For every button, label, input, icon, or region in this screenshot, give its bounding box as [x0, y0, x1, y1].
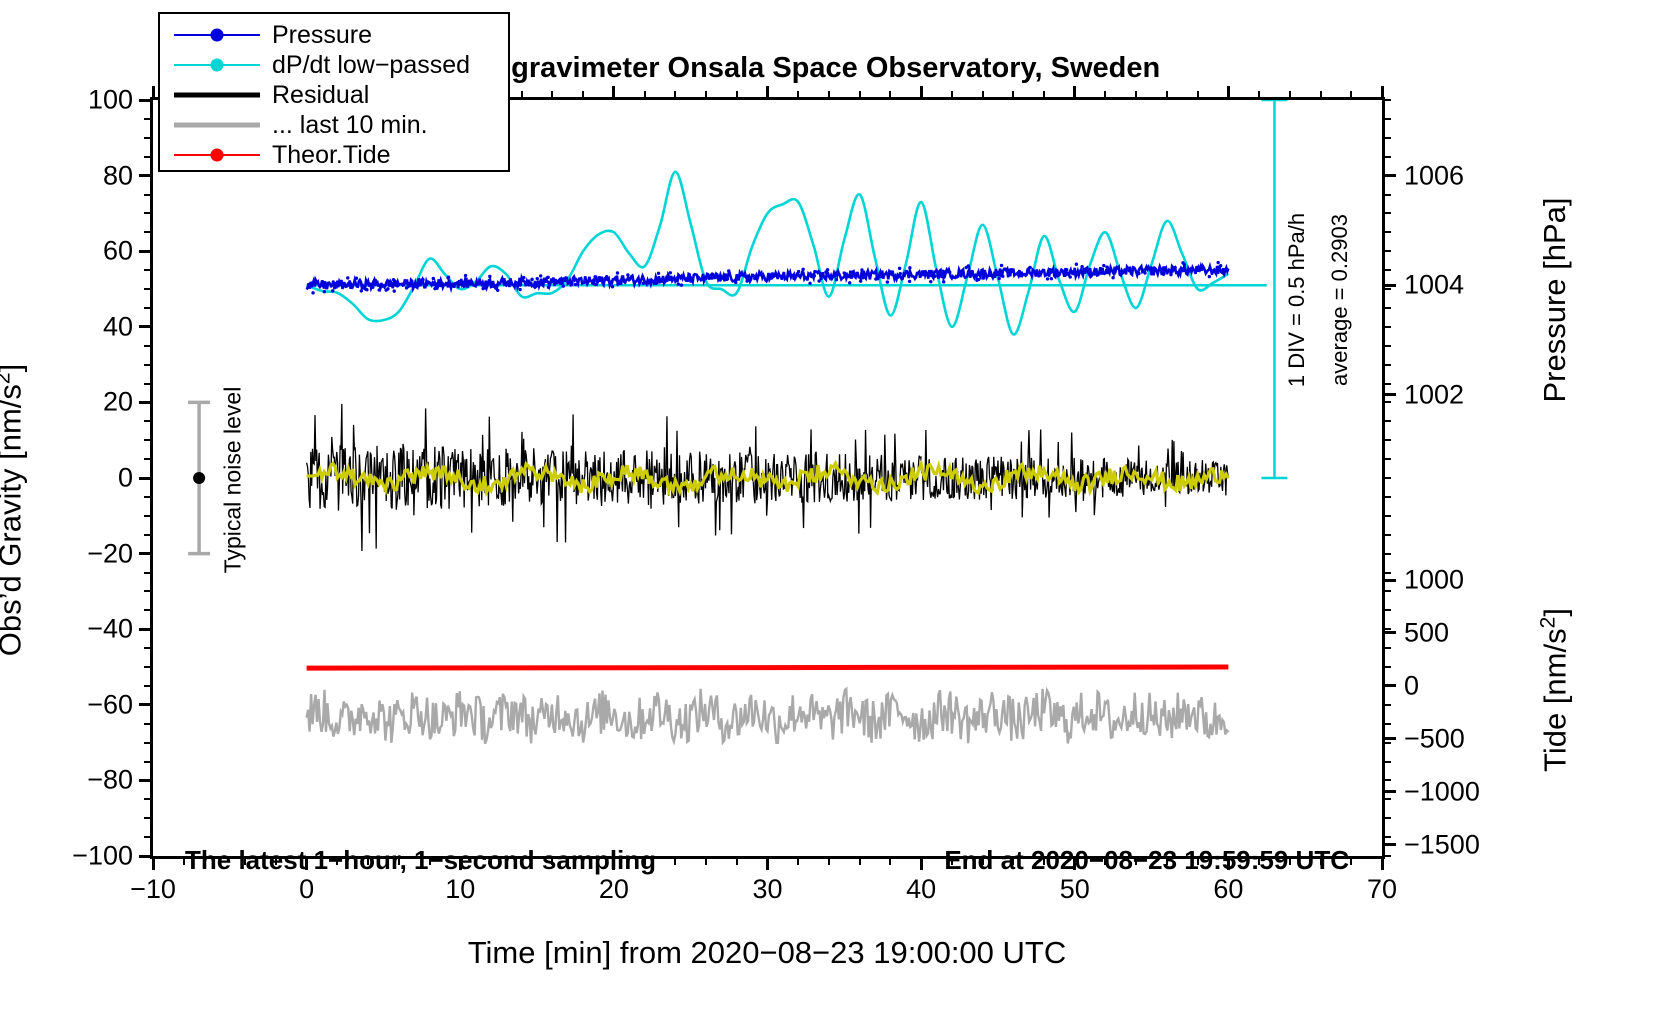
x-axis-tick-label: 60 [1213, 874, 1243, 905]
series-pressure-marker [734, 281, 737, 284]
series-pressure-marker [475, 281, 478, 284]
legend-marker-icon [211, 29, 224, 42]
y-axis-right-minor-tick [1382, 817, 1391, 819]
x-axis-minor-tick [1289, 91, 1291, 100]
series-pressure-marker [464, 274, 467, 277]
series-pressure-marker [1219, 264, 1222, 267]
y-axis-right-tide-tick-label: 0 [1404, 670, 1419, 701]
y-axis-right-tide-tick-label: 1000 [1404, 565, 1464, 596]
y-axis-right-minor-tick [1382, 515, 1391, 517]
x-axis-minor-tick [674, 91, 676, 100]
legend-label: Residual [272, 81, 369, 110]
bottom-left-note: The latest 1−hour, 1−second sampling [185, 845, 656, 876]
y-axis-right-minor-tick [1382, 628, 1391, 630]
series-pressure-marker [610, 280, 613, 283]
series-pressure-marker [1054, 274, 1057, 277]
series-pressure-marker [1169, 273, 1172, 276]
series-pressure-marker [745, 279, 748, 282]
y-axis-right-minor-tick [1382, 269, 1391, 271]
y-axis-right-pressure-tick-label: 1004 [1404, 270, 1464, 301]
y-axis-right-minor-tick [1382, 250, 1391, 252]
x-axis-minor-tick [1320, 91, 1322, 100]
legend-item-1[interactable]: dP/dt low−passed [160, 50, 508, 80]
y-axis-right-tide-tick [1382, 737, 1396, 740]
x-axis-minor-tick [797, 91, 799, 100]
series-pressure-marker [311, 291, 314, 294]
series-pressure-marker [331, 289, 334, 292]
legend: PressuredP/dt low−passedResidual... last… [158, 12, 510, 172]
series-pressure-marker [518, 283, 521, 286]
y-axis-left-minor-tick [144, 420, 153, 422]
y-axis-right-minor-tick [1382, 345, 1391, 347]
series-pressure-marker [574, 283, 577, 286]
series-pressure-marker [908, 266, 911, 269]
y-axis-right-minor-tick [1382, 609, 1391, 611]
series-pressure-marker [446, 276, 449, 279]
y-axis-right-minor-tick [1382, 99, 1391, 101]
x-axis-tick [766, 856, 769, 870]
y-axis-right-minor-tick [1382, 420, 1391, 422]
y-axis-left-minor-tick [144, 515, 153, 517]
x-axis-minor-tick [1197, 91, 1199, 100]
legend-swatch-icon [174, 25, 260, 45]
series-pressure-marker [378, 288, 381, 291]
series-pressure-marker [808, 282, 811, 285]
y-axis-right-minor-tick [1382, 572, 1391, 574]
series-pressure-marker [503, 280, 506, 283]
series-pressure-marker [656, 281, 659, 284]
series-pressure-marker [1008, 270, 1011, 273]
series-pressure-marker [616, 282, 619, 285]
series-pressure-marker [1050, 277, 1053, 280]
x-axis-minor-tick [582, 91, 584, 100]
series-pressure-marker [432, 277, 435, 280]
legend-label: Theor.Tide [272, 141, 391, 170]
y-axis-left-tick-label: 0 [118, 463, 133, 494]
y-axis-left-tick [139, 174, 153, 177]
y-axis-left-minor-tick [144, 269, 153, 271]
y-axis-right-minor-tick [1382, 836, 1391, 838]
y-axis-right-tide-tick [1382, 843, 1396, 846]
series-pressure-marker [421, 278, 424, 281]
x-axis-minor-tick [1012, 91, 1014, 100]
y-axis-left-minor-tick [144, 836, 153, 838]
y-axis-left-tick [139, 325, 153, 328]
x-axis-minor-tick [859, 91, 861, 100]
series-pressure-marker [657, 272, 660, 275]
series-pressure-marker [626, 273, 629, 276]
series-dpdt-lowpassed [307, 172, 1229, 335]
series-pressure-marker [393, 289, 396, 292]
series-pressure-marker [431, 282, 434, 285]
y-axis-left-tick [139, 703, 153, 706]
series-pressure-marker [488, 275, 491, 278]
y-axis-right-minor-tick [1382, 723, 1391, 725]
series-pressure-marker [1153, 267, 1156, 270]
series-pressure-marker [727, 269, 730, 272]
series-pressure-marker [898, 267, 901, 270]
y-axis-left-tick-label: 40 [103, 311, 133, 342]
x-axis-minor-tick [951, 91, 953, 100]
series-pressure-marker [848, 281, 851, 284]
x-axis-minor-tick [1350, 91, 1352, 100]
series-pressure-marker [933, 275, 936, 278]
x-axis-minor-tick [736, 91, 738, 100]
series-pressure-marker [1018, 274, 1021, 277]
series-pressure-marker [1143, 271, 1146, 274]
series-pressure-marker [704, 275, 707, 278]
x-axis-tick [920, 856, 923, 870]
series-pressure-marker [546, 276, 549, 279]
x-axis-minor-tick [1258, 91, 1260, 100]
y-axis-right-minor-tick [1382, 779, 1391, 781]
series-pressure-marker [616, 271, 619, 274]
series-pressure-marker [826, 268, 829, 271]
y-axis-right-minor-tick [1382, 212, 1391, 214]
y-axis-left-tick [139, 250, 153, 253]
x-axis-minor-tick [1104, 91, 1106, 100]
series-pressure-marker [978, 273, 981, 276]
series-pressure-marker [435, 282, 438, 285]
y-axis-right-pressure-tick [1382, 284, 1396, 287]
y-axis-left-minor-tick [144, 212, 153, 214]
series-pressure-marker [1048, 268, 1051, 271]
series-pressure-marker [797, 270, 800, 273]
x-axis-tick [152, 856, 155, 870]
y-axis-right-minor-tick [1382, 458, 1391, 460]
y-axis-right-minor-tick [1382, 326, 1391, 328]
y-axis-right-pressure-tick-label: 1006 [1404, 160, 1464, 191]
series-pressure-marker [720, 276, 723, 279]
series-pressure-marker [386, 287, 389, 290]
x-axis-tick-label: 10 [445, 874, 475, 905]
y-axis-left-minor-tick [144, 609, 153, 611]
series-pressure-marker [416, 284, 419, 287]
y-axis-right-minor-tick [1382, 439, 1391, 441]
y-axis-left-tick-label: −20 [87, 538, 133, 569]
y-axis-right-minor-tick [1382, 666, 1391, 668]
x-axis-minor-tick [889, 91, 891, 100]
series-pressure-marker [530, 278, 533, 281]
series-pressure-marker [801, 268, 804, 271]
series-pressure-marker [886, 280, 889, 283]
series-pressure-marker [346, 276, 349, 279]
y-axis-left-minor-tick [144, 496, 153, 498]
series-pressure-marker [995, 270, 998, 273]
y-axis-left-minor-tick [144, 156, 153, 158]
series-pressure-marker [371, 286, 374, 289]
series-pressure-marker [405, 286, 408, 289]
x-axis-minor-tick [1043, 91, 1045, 100]
y-axis-left-minor-tick [144, 572, 153, 574]
y-axis-right-minor-tick [1382, 137, 1391, 139]
y-axis-left-minor-tick [144, 231, 153, 233]
series-pressure-marker [874, 277, 877, 280]
legend-item-4[interactable]: Theor.Tide [160, 140, 508, 170]
series-pressure-marker [859, 279, 862, 282]
series-pressure-marker [929, 280, 932, 283]
series-pressure-marker [988, 274, 991, 277]
series-pressure-marker [1197, 268, 1200, 271]
typical-noise-level-label: Typical noise level [220, 387, 247, 574]
legend-swatch-icon [174, 55, 260, 75]
x-axis-minor-tick [828, 856, 830, 865]
y-axis-right-tide-tick [1382, 579, 1396, 582]
series-pressure-marker [494, 286, 497, 289]
bottom-right-note: End at 2020−08−23 19:59:59 UTC [944, 845, 1349, 876]
y-axis-left-tick-label: 100 [88, 85, 133, 116]
series-pressure-marker [544, 278, 547, 281]
y-axis-right-minor-tick [1382, 477, 1391, 479]
div-scale-label: 1 DIV = 0.5 hPa/h [1284, 213, 1310, 387]
y-axis-left-tick-label: −100 [72, 841, 133, 872]
y-axis-left-minor-tick [144, 798, 153, 800]
series-pressure-marker [899, 272, 902, 275]
series-pressure-marker [547, 286, 550, 289]
y-axis-left-minor-tick [144, 666, 153, 668]
series-pressure-marker [770, 276, 773, 279]
y-axis-right-minor-tick [1382, 798, 1391, 800]
series-pressure-marker [747, 274, 750, 277]
series-pressure-marker [572, 276, 575, 279]
series-pressure-marker [1128, 269, 1131, 272]
y-axis-left-minor-tick [144, 685, 153, 687]
series-pressure-marker [631, 275, 634, 278]
y-axis-right-minor-tick [1382, 156, 1391, 158]
y-axis-left-minor-tick [144, 742, 153, 744]
plot-canvas [153, 100, 1382, 856]
y-axis-left-minor-tick [144, 307, 153, 309]
x-axis-minor-tick [705, 91, 707, 100]
series-pressure-marker [1028, 266, 1031, 269]
series-pressure-marker [943, 270, 946, 273]
series-pressure-marker [753, 277, 756, 280]
y-axis-right-minor-tick [1382, 307, 1391, 309]
legend-label: Pressure [272, 21, 372, 50]
series-pressure-marker [813, 274, 816, 277]
y-axis-left-tick [139, 401, 153, 404]
x-axis-minor-tick [1350, 856, 1352, 865]
legend-item-0[interactable]: Pressure [160, 20, 508, 50]
series-pressure-marker [360, 289, 363, 292]
y-axis-right-pressure-title: Pressure [hPa] [1537, 197, 1573, 402]
y-axis-left-tick [139, 855, 153, 858]
series-pressure-marker [384, 283, 387, 286]
series-pressure-marker [1208, 275, 1211, 278]
y-axis-left-minor-tick [144, 288, 153, 290]
x-axis-tick [612, 86, 615, 100]
y-axis-left-tick [139, 628, 153, 631]
y-axis-left-minor-tick [144, 364, 153, 366]
series-pressure-marker [508, 280, 511, 283]
series-pressure-marker [536, 277, 539, 280]
series-pressure-marker [1082, 268, 1085, 271]
series-last-10-min [307, 689, 1229, 744]
series-pressure-marker [1075, 263, 1078, 266]
y-axis-right-minor-tick [1382, 364, 1391, 366]
y-axis-left-tick-label: −60 [87, 689, 133, 720]
y-axis-left-minor-tick [144, 534, 153, 536]
y-axis-left-minor-tick [144, 817, 153, 819]
series-pressure-marker [1162, 273, 1165, 276]
series-pressure-marker [365, 288, 368, 291]
y-axis-right-minor-tick [1382, 761, 1391, 763]
series-pressure-marker [1101, 268, 1104, 271]
series-pressure-marker [973, 274, 976, 277]
y-axis-right-tide-tick-label: −500 [1404, 723, 1465, 754]
series-pressure-marker [982, 276, 985, 279]
x-axis-minor-tick [859, 856, 861, 865]
x-axis-minor-tick [982, 91, 984, 100]
series-pressure-marker [373, 281, 376, 284]
series-pressure-marker [663, 280, 666, 283]
series-pressure-marker [687, 277, 690, 280]
legend-item-3[interactable]: ... last 10 min. [160, 110, 508, 140]
x-axis-minor-tick [644, 91, 646, 100]
y-axis-left-tick-label: −80 [87, 765, 133, 796]
x-axis-tick-label: 0 [299, 874, 314, 905]
y-axis-right-minor-tick [1382, 383, 1391, 385]
series-pressure-marker [593, 275, 596, 278]
series-theor-tide [307, 667, 1229, 668]
y-axis-right-tide-tick [1382, 631, 1396, 634]
series-pressure-marker [809, 274, 812, 277]
y-axis-left-tick-label: 80 [103, 160, 133, 191]
series-pressure-marker [948, 270, 951, 273]
y-axis-left-minor-tick [144, 383, 153, 385]
x-axis-tick-label: 40 [906, 874, 936, 905]
y-axis-right-minor-tick [1382, 647, 1391, 649]
x-axis-tick [1381, 86, 1384, 100]
series-pressure-marker [700, 277, 703, 280]
series-pressure-marker [522, 276, 525, 279]
x-axis-minor-tick [551, 91, 553, 100]
y-axis-right-tide-title: Tide [nm/s2] [1536, 608, 1573, 772]
y-axis-right-minor-tick [1382, 534, 1391, 536]
x-axis-minor-tick [521, 91, 523, 100]
y-axis-right-minor-tick [1382, 288, 1391, 290]
x-axis-minor-tick [1166, 91, 1168, 100]
legend-marker-icon [211, 149, 224, 162]
series-pressure-marker [835, 278, 838, 281]
x-axis-title: Time [min] from 2020−08−23 19:00:00 UTC [468, 935, 1067, 971]
x-axis-minor-tick [674, 856, 676, 865]
y-axis-right-minor-tick [1382, 742, 1391, 744]
series-pressure-marker [942, 280, 945, 283]
series-pressure-marker [1137, 272, 1140, 275]
legend-marker-icon [211, 59, 224, 72]
series-pressure-marker [975, 279, 978, 282]
x-axis-tick [920, 86, 923, 100]
y-axis-left-tick [139, 779, 153, 782]
series-pressure-marker [1105, 265, 1108, 268]
series-pressure-marker [1102, 264, 1105, 267]
series-pressure-marker [860, 268, 863, 271]
x-axis-tick-label: 20 [599, 874, 629, 905]
legend-swatch-icon [174, 145, 260, 165]
y-axis-left-minor-tick [144, 723, 153, 725]
y-axis-left-tick [139, 477, 153, 480]
series-pressure-marker [677, 282, 680, 285]
x-axis-minor-tick [889, 856, 891, 865]
series-pressure-marker [439, 284, 442, 287]
series-pressure-marker [321, 280, 324, 283]
y-axis-right-pressure-tick [1382, 393, 1396, 396]
series-pressure-marker [916, 271, 919, 274]
y-axis-left-minor-tick [144, 439, 153, 441]
y-axis-left-minor-tick [144, 761, 153, 763]
y-axis-right-minor-tick [1382, 401, 1391, 403]
y-axis-left-title: Obs’d Gravity [nm/s2] [0, 364, 29, 657]
series-pressure-marker [843, 271, 846, 274]
y-axis-right-minor-tick [1382, 194, 1391, 196]
y-axis-left-tick-label: 20 [103, 387, 133, 418]
y-axis-right-minor-tick [1382, 496, 1391, 498]
y-axis-left-minor-tick [144, 647, 153, 649]
series-pressure-marker [967, 264, 970, 267]
series-pressure-marker [792, 277, 795, 280]
series-pressure-marker [1216, 261, 1219, 264]
y-axis-left-tick-label: −40 [87, 614, 133, 645]
series-pressure-marker [1065, 268, 1068, 271]
series-pressure-marker [999, 274, 1002, 277]
y-axis-left-minor-tick [144, 194, 153, 196]
x-axis-minor-tick [736, 856, 738, 865]
series-pressure-marker [642, 282, 645, 285]
series-pressure-marker [538, 282, 541, 285]
series-pressure-marker [1046, 277, 1049, 280]
x-axis-minor-tick [797, 856, 799, 865]
x-axis-tick-label: 70 [1367, 874, 1397, 905]
series-pressure-marker [539, 274, 542, 277]
y-axis-right-tide-tick-label: −1000 [1404, 776, 1480, 807]
series-pressure-marker [394, 280, 397, 283]
y-axis-right-minor-tick [1382, 685, 1391, 687]
series-pressure-marker [1069, 275, 1072, 278]
series-pressure-marker [669, 271, 672, 274]
series-pressure-marker [597, 279, 600, 282]
y-axis-left-tick-label: 60 [103, 236, 133, 267]
y-axis-right-minor-tick [1382, 175, 1391, 177]
series-pressure-marker [726, 277, 729, 280]
series-pressure-marker [817, 279, 820, 282]
y-axis-left-minor-tick [144, 458, 153, 460]
y-axis-right-minor-tick [1382, 704, 1391, 706]
legend-item-2[interactable]: Residual [160, 80, 508, 110]
series-pressure-marker [1163, 266, 1166, 269]
x-axis-tick [1073, 86, 1076, 100]
y-axis-right-tide-tick-label: 500 [1404, 617, 1449, 648]
y-axis-left-tick [139, 99, 153, 102]
series-pressure-marker [680, 283, 683, 286]
x-axis-tick-label: −10 [130, 874, 176, 905]
x-axis-tick [1227, 86, 1230, 100]
series-pressure-marker [562, 284, 565, 287]
y-axis-right-minor-tick [1382, 231, 1391, 233]
y-axis-right-minor-tick [1382, 590, 1391, 592]
x-axis-tick-label: 30 [752, 874, 782, 905]
series-pressure-marker [593, 278, 596, 281]
series-pressure-marker [1173, 266, 1176, 269]
y-axis-left-tick [139, 552, 153, 555]
y-axis-right-tide-tick [1382, 790, 1396, 793]
x-axis-minor-tick [705, 856, 707, 865]
y-axis-right-minor-tick [1382, 118, 1391, 120]
series-pressure-marker [435, 287, 438, 290]
series-pressure-marker [323, 290, 326, 293]
y-axis-right-minor-tick [1382, 855, 1391, 857]
x-axis-tick [1381, 856, 1384, 870]
